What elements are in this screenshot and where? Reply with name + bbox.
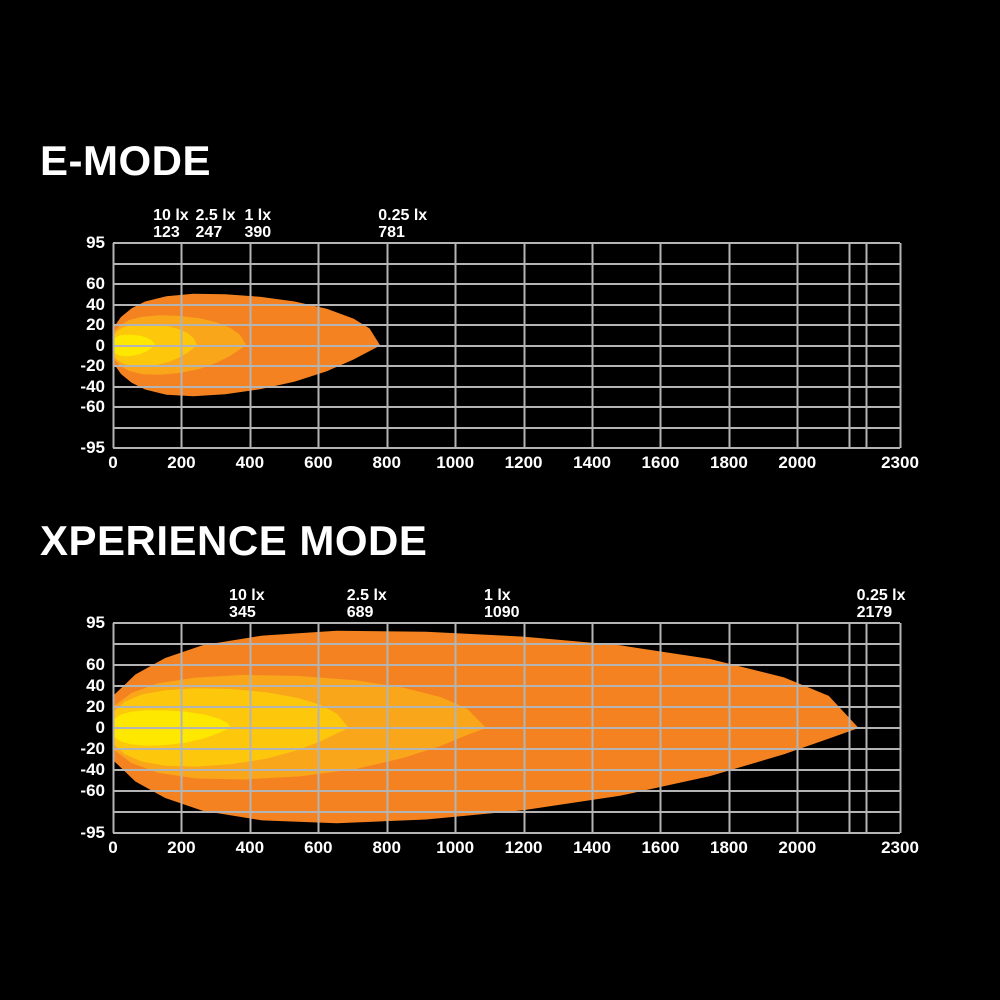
x-axis-tick-label: 1800 (710, 838, 748, 858)
illuminance-marker: 10 lx123 (153, 208, 189, 242)
marker-lux-label: 0.25 lx (857, 588, 906, 605)
x-axis-tick-label: 2300 (881, 838, 919, 858)
x-axis-tick-label: 400 (236, 453, 264, 473)
page-title-xperience-mode: XPERIENCE MODE (40, 520, 1000, 562)
x-axis-tick-label: 1200 (505, 838, 543, 858)
x-axis-tick-label: 0 (108, 453, 117, 473)
marker-distance-label: 390 (244, 225, 271, 242)
marker-lux-label: 10 lx (229, 588, 265, 605)
marker-row-xperience-mode: 10 lx3452.5 lx6891 lx10900.25 lx2179 (0, 580, 1000, 622)
x-axis-labels-xperience-mode: 0200400600800100012001400160018002000230… (0, 834, 1000, 864)
x-axis-tick-label: 1600 (642, 838, 680, 858)
marker-distance-label: 247 (196, 225, 236, 242)
marker-distance-label: 781 (378, 225, 427, 242)
x-axis-tick-label: 1600 (642, 453, 680, 473)
x-axis-tick-label: 800 (373, 453, 401, 473)
marker-distance-label: 1090 (484, 605, 520, 622)
illuminance-marker: 1 lx1090 (484, 588, 520, 622)
x-axis-tick-label: 2000 (778, 838, 816, 858)
x-axis-tick-label: 1000 (436, 453, 474, 473)
x-axis-tick-label: 400 (236, 838, 264, 858)
marker-distance-label: 689 (347, 605, 387, 622)
illuminance-marker: 2.5 lx689 (347, 588, 387, 622)
x-axis-tick-label: 2000 (778, 453, 816, 473)
beam-pattern-plot (0, 622, 1000, 834)
x-axis-tick-label: 1800 (710, 453, 748, 473)
marker-lux-label: 0.25 lx (378, 208, 427, 225)
x-axis-tick-label: 800 (373, 838, 401, 858)
marker-distance-label: 2179 (857, 605, 906, 622)
plot-area-e-mode: 956040200-20-40-60-95 (0, 242, 1000, 449)
illuminance-marker: 10 lx345 (229, 588, 265, 622)
x-axis-tick-label: 1400 (573, 453, 611, 473)
beam-pattern-plot (0, 242, 1000, 449)
marker-lux-label: 1 lx (244, 208, 271, 225)
marker-lux-label: 2.5 lx (347, 588, 387, 605)
x-axis-tick-label: 1000 (436, 838, 474, 858)
chart-block-xperience-mode: XPERIENCE MODE 10 lx3452.5 lx6891 lx1090… (0, 520, 1000, 880)
x-axis-tick-label: 1400 (573, 838, 611, 858)
x-axis-labels-e-mode: 0200400600800100012001400160018002000230… (0, 449, 1000, 479)
marker-distance-label: 345 (229, 605, 265, 622)
illuminance-marker: 0.25 lx781 (378, 208, 427, 242)
illuminance-marker: 2.5 lx247 (196, 208, 236, 242)
x-axis-tick-label: 600 (304, 838, 332, 858)
illuminance-marker: 0.25 lx2179 (857, 588, 906, 622)
x-axis-tick-label: 1200 (505, 453, 543, 473)
x-axis-tick-label: 200 (167, 453, 195, 473)
marker-lux-label: 10 lx (153, 208, 189, 225)
x-axis-tick-label: 200 (167, 838, 195, 858)
plot-area-xperience-mode: 956040200-20-40-60-95 (0, 622, 1000, 834)
marker-distance-label: 123 (153, 225, 189, 242)
marker-lux-label: 2.5 lx (196, 208, 236, 225)
chart-block-e-mode: E-MODE 10 lx1232.5 lx2471 lx3900.25 lx78… (0, 140, 1000, 490)
x-axis-tick-label: 0 (108, 838, 117, 858)
illuminance-marker: 1 lx390 (244, 208, 271, 242)
page-title-e-mode: E-MODE (40, 140, 1000, 182)
plot-wrapper-xperience-mode: 10 lx3452.5 lx6891 lx10900.25 lx2179 956… (0, 580, 1000, 864)
x-axis-tick-label: 600 (304, 453, 332, 473)
plot-wrapper-e-mode: 10 lx1232.5 lx2471 lx3900.25 lx781 95604… (0, 200, 1000, 479)
marker-row-e-mode: 10 lx1232.5 lx2471 lx3900.25 lx781 (0, 200, 1000, 242)
marker-lux-label: 1 lx (484, 588, 520, 605)
x-axis-tick-label: 2300 (881, 453, 919, 473)
